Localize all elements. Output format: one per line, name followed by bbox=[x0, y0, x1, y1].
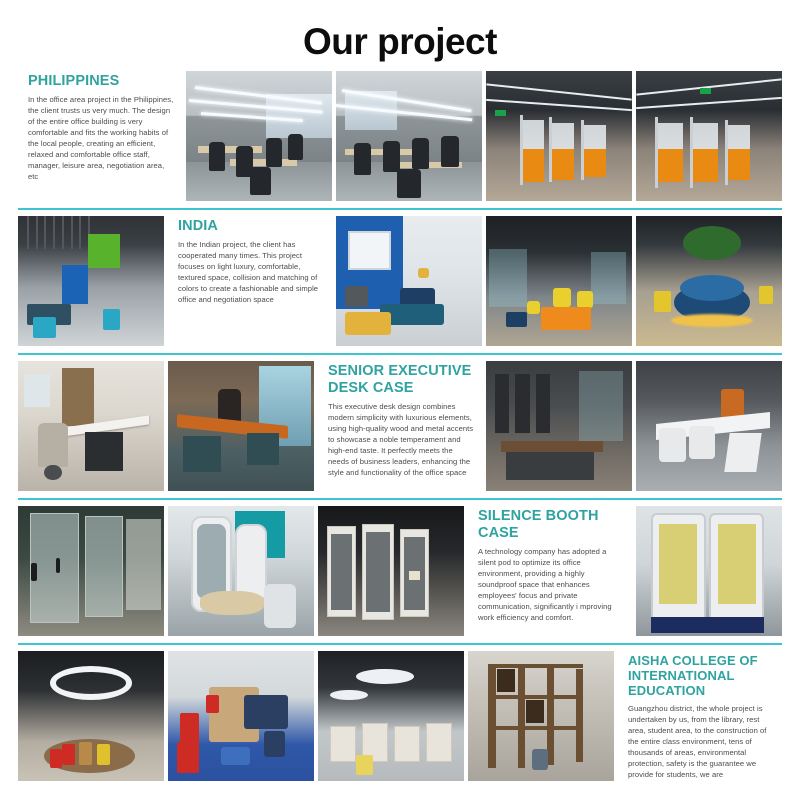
project-row-india: INDIA In the Indian project, the client … bbox=[18, 216, 782, 346]
project-body: A technology company has adopted a silen… bbox=[478, 546, 624, 623]
project-rows: PHILIPPINES In the office area project i… bbox=[0, 71, 800, 781]
row-divider-3 bbox=[18, 498, 782, 500]
project-heading: SILENCE BOOTH CASE bbox=[478, 508, 624, 542]
project-photo-open-plan-office-workstations-wide[interactable] bbox=[186, 71, 332, 201]
row-divider-4 bbox=[18, 643, 782, 645]
project-heading: SENIOR EXECUTIVE DESK CASE bbox=[328, 363, 474, 397]
project-text-senior-executive-desk-case: SENIOR EXECUTIVE DESK CASE This executiv… bbox=[318, 361, 482, 491]
project-photo-tall-wooden-bookshelves[interactable] bbox=[468, 651, 614, 781]
project-row-philippines: PHILIPPINES In the office area project i… bbox=[18, 71, 782, 201]
project-photo-circular-blue-sofa-with-tree[interactable] bbox=[636, 216, 782, 346]
row-divider-2 bbox=[18, 353, 782, 355]
project-heading: AISHA COLLEGE OF INTERNATIONAL EDUCATION bbox=[628, 653, 774, 699]
row-divider-1 bbox=[18, 208, 782, 210]
project-photo-library-reading-pods-blue-floor[interactable] bbox=[168, 651, 314, 781]
project-photo-orange-cubicle-partitions-hall[interactable] bbox=[636, 71, 782, 201]
project-photo-white-marble-executive-desk[interactable] bbox=[18, 361, 164, 491]
project-body: In the office area project in the Philip… bbox=[28, 94, 174, 182]
project-photo-dark-booth-row-interior[interactable] bbox=[318, 506, 464, 636]
project-photo-student-shelving-area[interactable] bbox=[318, 651, 464, 781]
project-showcase-page: Our project PHILIPPINES In the office ar… bbox=[0, 0, 800, 800]
project-row-silence-booth-case: SILENCE BOOTH CASE A technology company … bbox=[18, 506, 782, 636]
project-text-aisha-college: AISHA COLLEGE OF INTERNATIONAL EDUCATION… bbox=[618, 651, 782, 781]
project-row-aisha-college: AISHA COLLEGE OF INTERNATIONAL EDUCATION… bbox=[18, 651, 782, 781]
project-photo-corridor-with-green-framed-pods[interactable] bbox=[18, 216, 164, 346]
project-photo-blue-wall-lounge-with-sofas[interactable] bbox=[336, 216, 482, 346]
page-title: Our project bbox=[0, 0, 800, 71]
project-photo-dark-wood-executive-desk[interactable] bbox=[486, 361, 632, 491]
project-photo-orange-wood-executive-desk[interactable] bbox=[168, 361, 314, 491]
project-photo-orange-cubicle-partitions-corridor[interactable] bbox=[486, 71, 632, 201]
project-heading: PHILIPPINES bbox=[28, 73, 174, 90]
project-text-silence-booth-case: SILENCE BOOTH CASE A technology company … bbox=[468, 506, 632, 636]
project-photo-white-curved-executive-desk[interactable] bbox=[636, 361, 782, 491]
project-photo-atrium-with-yellow-chairs[interactable] bbox=[486, 216, 632, 346]
project-text-philippines: PHILIPPINES In the office area project i… bbox=[18, 71, 182, 201]
project-photo-white-booth-open-door-office[interactable] bbox=[168, 506, 314, 636]
project-text-india: INDIA In the Indian project, the client … bbox=[168, 216, 332, 346]
project-photo-green-glass-booth-interior[interactable] bbox=[18, 506, 164, 636]
project-body: Guangzhou district, the whole project is… bbox=[628, 703, 774, 781]
project-photo-ring-light-lobby-with-stools[interactable] bbox=[18, 651, 164, 781]
project-photo-white-booth-pair-yellow-interior[interactable] bbox=[636, 506, 782, 636]
project-row-senior-executive-desk-case: SENIOR EXECUTIVE DESK CASE This executiv… bbox=[18, 361, 782, 491]
project-photo-open-plan-office-workstations-rows[interactable] bbox=[336, 71, 482, 201]
project-body: In the Indian project, the client has co… bbox=[178, 239, 324, 305]
project-heading: INDIA bbox=[178, 218, 324, 235]
project-body: This executive desk design combines mode… bbox=[328, 401, 474, 478]
